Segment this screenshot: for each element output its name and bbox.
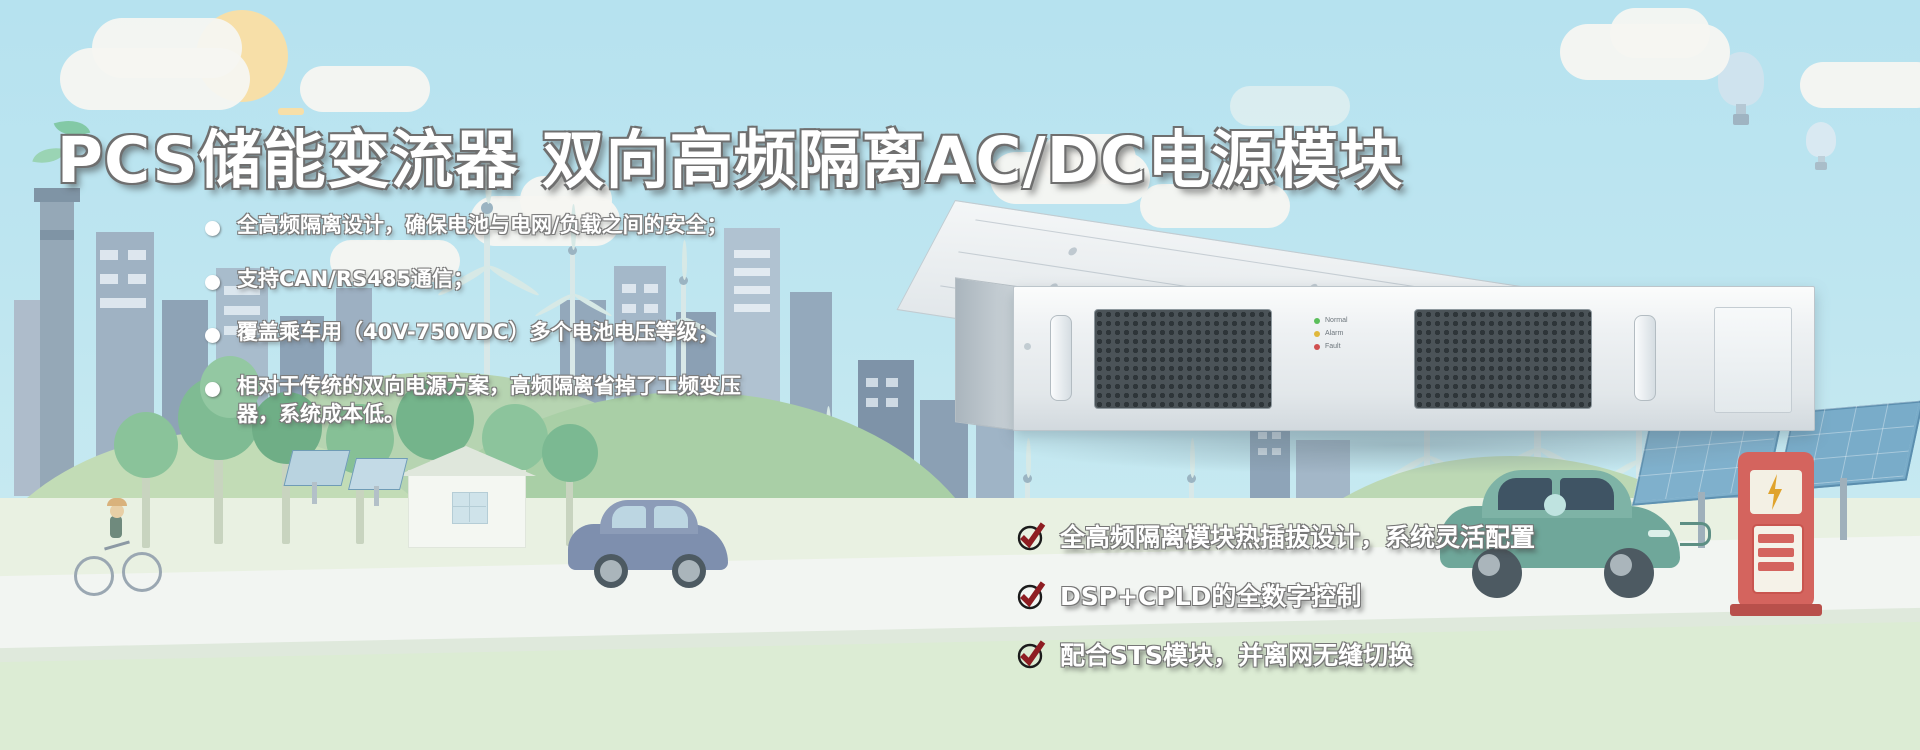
lightning-bolt-icon [1766, 472, 1784, 512]
feature-text: 相对于传统的双向电源方案，高频隔离省掉了工频变压器，系统成本低。 [237, 373, 777, 428]
device-led-indicators: Normal Alarm Fault [1314, 317, 1348, 356]
check-circle-icon [1016, 580, 1046, 610]
check-circle-icon [1016, 521, 1046, 551]
feature-text: 覆盖乘车用（40V-750VDC）多个电池电压等级； [237, 319, 719, 347]
bullet-dot-icon [205, 221, 220, 236]
list-item: 全高频隔离设计，确保电池与电网/负载之间的安全； [205, 212, 905, 240]
bullet-dot-icon [205, 275, 220, 290]
product-banner: Normal Alarm Fault [0, 0, 1920, 750]
device-handle-right [1634, 315, 1656, 401]
feature-list: 全高频隔离设计，确保电池与电网/负载之间的安全； 支持CAN/RS485通信； … [205, 212, 905, 455]
device-handle-left [1050, 315, 1072, 401]
power-module-device: Normal Alarm Fault [955, 200, 1835, 490]
bullet-dot-icon [205, 382, 220, 397]
list-item: 全高频隔离模块热插拔设计，系统灵活配置 [1016, 518, 1535, 554]
led-row: Fault [1314, 343, 1348, 350]
led-label: Alarm [1325, 330, 1343, 337]
led-normal-icon [1314, 318, 1320, 324]
feature-text: 支持CAN/RS485通信； [237, 266, 474, 294]
device-side-panel [955, 277, 1017, 431]
list-item: 覆盖乘车用（40V-750VDC）多个电池电压等级； [205, 319, 905, 347]
check-circle-icon [1016, 639, 1046, 669]
led-row: Normal [1314, 317, 1348, 324]
device-front-panel: Normal Alarm Fault [1013, 286, 1815, 431]
device-vent-right [1414, 309, 1592, 409]
list-item: 相对于传统的双向电源方案，高频隔离省掉了工频变压器，系统成本低。 [205, 373, 905, 428]
bullet-dot-icon [205, 328, 220, 343]
led-fault-icon [1314, 344, 1320, 350]
list-item: 支持CAN/RS485通信； [205, 266, 905, 294]
list-item: DSP+CPLD的全数字控制 [1016, 577, 1535, 613]
highlight-text: 配合STS模块，并离网无缝切换 [1060, 636, 1413, 672]
page-title: PCS储能变流器 双向高频隔离AC/DC电源模块 [0, 110, 1460, 201]
led-label: Normal [1325, 317, 1348, 324]
list-item: 配合STS模块，并离网无缝切换 [1016, 636, 1535, 672]
led-row: Alarm [1314, 330, 1348, 337]
highlight-text: DSP+CPLD的全数字控制 [1060, 577, 1361, 613]
led-alarm-icon [1314, 331, 1320, 337]
highlight-text: 全高频隔离模块热插拔设计，系统灵活配置 [1060, 518, 1535, 554]
led-label: Fault [1325, 343, 1341, 350]
highlight-list: 全高频隔离模块热插拔设计，系统灵活配置 DSP+CPLD的全数字控制 配合STS… [1016, 518, 1535, 695]
feature-text: 全高频隔离设计，确保电池与电网/负载之间的安全； [237, 212, 728, 240]
device-vent-left [1094, 309, 1272, 409]
